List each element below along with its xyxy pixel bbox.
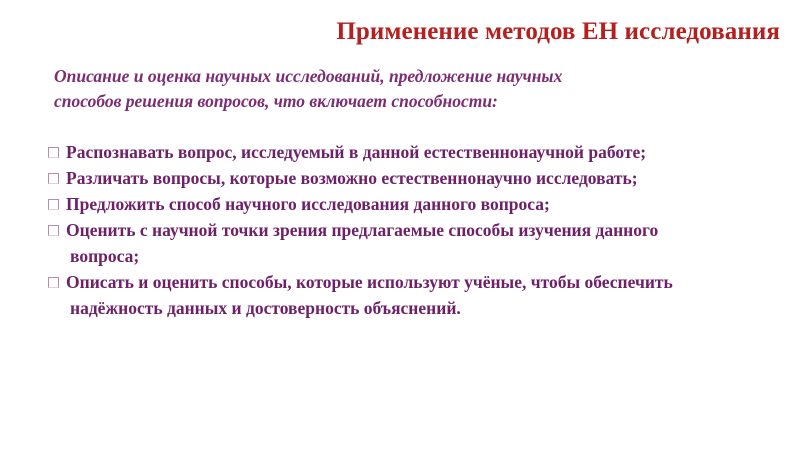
list-item-label: Описать и оценить способы, которые испол… <box>66 272 673 318</box>
list-item: Различать вопросы, которые возможно есте… <box>48 165 708 191</box>
lead-paragraph: Описание и оценка научных исследований, … <box>54 64 694 114</box>
capability-bullet-list: Распознавать вопрос, исследуемый в данно… <box>48 139 708 321</box>
open-box-icon <box>48 173 59 184</box>
list-item-label: Распознавать вопрос, исследуемый в данно… <box>66 142 646 162</box>
list-item: Описать и оценить способы, которые испол… <box>48 269 708 321</box>
list-item-label: Предложить способ научного исследования … <box>66 194 550 214</box>
lead-paragraph-container: Описание и оценка научных исследований, … <box>54 64 694 114</box>
list-item: Предложить способ научного исследования … <box>48 191 708 217</box>
slide-title-container: Применение методов ЕН исследования <box>250 18 780 46</box>
page-title: Применение методов ЕН исследования <box>250 18 780 46</box>
list-item-label: Оценить с научной точки зрения предлагае… <box>66 220 658 266</box>
lead-paragraph-line-2: способов решения вопросов, что включает … <box>54 89 694 114</box>
list-item-label: Различать вопросы, которые возможно есте… <box>66 168 638 188</box>
open-box-icon <box>48 147 59 158</box>
list-item: Распознавать вопрос, исследуемый в данно… <box>48 139 708 165</box>
open-box-icon <box>48 199 59 210</box>
open-box-icon <box>48 277 59 288</box>
open-box-icon <box>48 225 59 236</box>
slide-canvas: Применение методов ЕН исследования Описа… <box>0 0 800 450</box>
lead-paragraph-line-1: Описание и оценка научных исследований, … <box>54 64 694 89</box>
list-item: Оценить с научной точки зрения предлагае… <box>48 217 708 269</box>
